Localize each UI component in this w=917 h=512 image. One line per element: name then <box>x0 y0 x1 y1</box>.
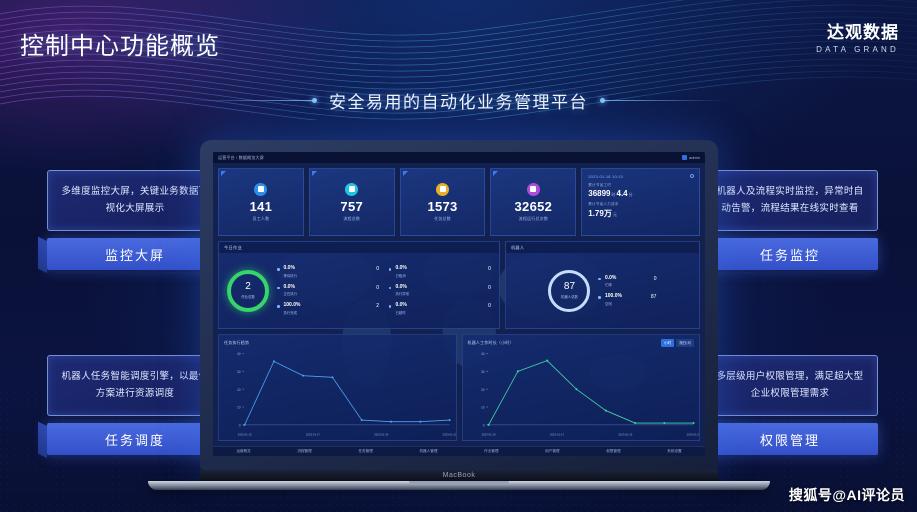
dock-item[interactable]: 用户管理 <box>545 449 559 454</box>
feature-desc-box: 机器人任务智能调度引擎，以最优方案进行资源调度 <box>47 355 223 416</box>
laptop-brand: MacBook <box>443 472 476 479</box>
svg-text:2023-01-19: 2023-01-19 <box>374 433 388 437</box>
panel-today-business: 今日作业 2 作业总数 <box>218 241 500 329</box>
dashboard-dock: 运营概览 流程管理 任务管理 机器人管理 作业管理 用户管理 权限管理 系统设置 <box>213 446 705 456</box>
feature-card-permission[interactable]: 多层级用户权限管理，满足超大型企业权限管理需求 权限管理 <box>702 355 878 455</box>
svg-text:2023-01-15: 2023-01-15 <box>238 433 252 437</box>
stat-label: 员工人数 <box>253 216 270 222</box>
legend-pct: 0.0% <box>284 285 298 291</box>
laptop-base: MacBook <box>200 470 718 481</box>
panel-legend: 0.0% 等待执行 0 0.0% <box>277 266 491 315</box>
legend-pct: 0.0% <box>284 266 298 272</box>
dock-item[interactable]: 权限管理 <box>606 449 620 454</box>
info-row-label: 累计节省工时 <box>588 183 693 188</box>
legend-dot-icon <box>277 287 280 290</box>
subtitle-text: 安全易用的自动化业务管理平台 <box>329 88 588 113</box>
legend-name: 执行完成 <box>284 310 301 315</box>
stat-label: 流程总数 <box>343 216 360 222</box>
feature-desc-box: 多维度监控大屏，关键业务数据可视化大屏展示 <box>47 170 223 231</box>
legend-count: 0 <box>482 285 491 291</box>
svg-text:2023-01-22: 2023-01-22 <box>686 433 699 437</box>
feature-desc: 机器人任务智能调度引擎，以最优方案进行资源调度 <box>60 369 210 402</box>
chart-toggle-off[interactable]: 按日/月 <box>676 339 694 347</box>
legend-dot-icon <box>389 305 392 308</box>
legend-pct: 0.0% <box>395 266 406 272</box>
info-row-hours: 累计节省工时 36899时4.4分 <box>588 183 693 198</box>
svg-text:30: 30 <box>237 370 241 374</box>
legend-count: 0 <box>648 276 657 282</box>
info-row-value: 36899时4.4分 <box>588 189 693 198</box>
info-row-cost: 累计节省人力成本 1.79万元 <box>588 202 693 219</box>
legend-item: 100.0% 执行完成 2 <box>277 303 379 315</box>
stat-label: 任务总数 <box>434 216 451 222</box>
legend-count: 0 <box>482 266 491 272</box>
legend-count: 0 <box>370 285 379 291</box>
dock-item[interactable]: 流程管理 <box>297 449 311 454</box>
panel-content: 2 作业总数 0.0% 等待 <box>219 253 499 328</box>
legend-dot-icon <box>277 268 280 271</box>
legend-pct: 0.0% <box>605 276 616 282</box>
line-chart-right[interactable]: 机器人工作时长（小时） 小时 按日/月 4030201002023-01-152… <box>462 334 701 441</box>
legend-dot-icon <box>389 268 392 271</box>
svg-text:2023-01-22: 2023-01-22 <box>443 433 456 437</box>
donut-label: 作业总数 <box>241 294 255 299</box>
feature-desc: 多维度监控大屏，关键业务数据可视化大屏展示 <box>60 184 210 217</box>
info-value-sub: 4.4 <box>617 189 628 198</box>
feature-card-task-schedule[interactable]: 机器人任务智能调度引擎，以最优方案进行资源调度 任务调度 <box>47 355 223 455</box>
info-unit-1: 时 <box>612 192 616 197</box>
feature-desc-box: 多层级用户权限管理，满足超大型企业权限管理需求 <box>702 355 878 416</box>
chart-right-svg: 4030201002023-01-152023-01-172023-01-192… <box>463 347 700 440</box>
legend-dot-icon <box>277 305 280 308</box>
chart-toggle-group[interactable]: 小时 按日/月 <box>661 339 694 347</box>
legend-item: 0.0% 等待执行 0 <box>277 266 379 278</box>
donut-value: 87 <box>564 282 575 292</box>
breadcrumb: 运营平台 / 数据概览大屏 <box>218 155 264 161</box>
feature-desc: 多层级用户权限管理，满足超大型企业权限管理需求 <box>715 369 865 402</box>
feature-desc: 机器人及流程实时监控，异常时自动告警，流程结果在线实时查看 <box>715 184 865 217</box>
panel-row: 今日作业 2 作业总数 <box>218 241 700 329</box>
panel-header: 今日作业 <box>219 242 499 253</box>
legend-column-right: 0.0% 已取消 0 0.0% <box>389 266 491 315</box>
laptop-mockup: 运营平台 / 数据概览大屏 admin <box>200 140 718 481</box>
legend-column: 0.0% 忙碌 0 100.0% <box>598 276 656 306</box>
legend-name: 执行异常 <box>395 291 409 296</box>
legend-dot-icon <box>598 296 601 299</box>
panel-robot: 机器人 87 机器人总数 <box>505 241 700 329</box>
svg-text:40: 40 <box>480 352 484 356</box>
legend-name: 等待执行 <box>284 273 298 278</box>
svg-text:2023-01-15: 2023-01-15 <box>481 433 495 437</box>
brand-logo: 达观数据 DATA GRAND <box>816 18 899 54</box>
legend-count: 87 <box>645 294 657 300</box>
savings-info-card[interactable]: 2023-01-18 10:13 累计节省工时 36899时4.4分 累计节省人… <box>581 168 700 236</box>
panel-title: 今日作业 <box>224 245 242 251</box>
logo-chinese: 达观数据 <box>816 18 899 43</box>
svg-text:10: 10 <box>237 406 241 410</box>
watermark: 搜狐号@AI评论员 <box>789 485 905 505</box>
dock-item[interactable]: 运营概览 <box>236 449 250 454</box>
info-card-date: 2023-01-18 10:13 <box>588 174 693 179</box>
feature-label-monitor-screen[interactable]: 监控大屏 <box>47 238 223 270</box>
clipboard-icon <box>436 183 449 196</box>
panel-title: 机器人 <box>511 245 524 251</box>
donut-chart-today-business: 2 作业总数 <box>227 270 269 312</box>
user-menu[interactable]: admin <box>682 155 700 160</box>
subtitle-line-right <box>602 100 727 101</box>
dock-item[interactable]: 任务管理 <box>358 449 372 454</box>
chart-icon <box>527 183 540 196</box>
stat-card-tasks[interactable]: 1573 任务总数 <box>400 168 486 236</box>
legend-pct: 100.0% <box>605 294 622 300</box>
logo-english: DATA GRAND <box>816 45 899 54</box>
svg-text:0: 0 <box>482 423 484 427</box>
chart-title: 任务执行趋势 <box>224 340 451 346</box>
stat-card-employees[interactable]: 141 员工人数 <box>218 168 304 236</box>
legend-count: 2 <box>370 303 379 309</box>
legend-pct: 0.0% <box>395 303 406 309</box>
stat-value: 141 <box>250 200 273 213</box>
legend-name: 已取消 <box>395 273 406 278</box>
feature-card-monitor-screen[interactable]: 多维度监控大屏，关键业务数据可视化大屏展示 监控大屏 <box>47 170 223 270</box>
stat-card-runs[interactable]: 32652 流程运行总次数 <box>490 168 576 236</box>
svg-text:20: 20 <box>480 388 484 392</box>
legend-pct: 0.0% <box>395 285 409 291</box>
refresh-icon[interactable] <box>690 174 694 178</box>
svg-text:30: 30 <box>480 370 484 374</box>
legend-item: 0.0% 已超时 0 <box>389 303 491 315</box>
laptop-lid: 运营平台 / 数据概览大屏 admin <box>200 140 718 470</box>
donut-label: 机器人总数 <box>561 294 578 299</box>
donut-chart-robot: 87 机器人总数 <box>548 270 590 312</box>
dock-item[interactable]: 作业管理 <box>484 449 498 454</box>
stat-card-row: 141 员工人数 757 流程总数 1573 任务总数 <box>218 168 700 236</box>
page-title: 控制中心功能概览 <box>20 26 220 61</box>
legend-name: 忙碌 <box>605 282 616 287</box>
svg-text:40: 40 <box>237 352 241 356</box>
legend-item: 0.0% 执行异常 0 <box>389 285 491 297</box>
chart-left-svg: 4030201002023-01-152023-01-172023-01-192… <box>219 347 456 440</box>
svg-text:20: 20 <box>237 388 241 392</box>
person-icon <box>254 183 267 196</box>
legend-dot-icon <box>598 278 601 281</box>
legend-column-left: 0.0% 等待执行 0 0.0% <box>277 266 379 315</box>
info-row-label: 累计节省人力成本 <box>588 202 693 207</box>
feature-card-task-monitor[interactable]: 机器人及流程实时监控，异常时自动告警，流程结果在线实时查看 任务监控 <box>702 170 878 270</box>
chart-toggle-on[interactable]: 小时 <box>661 339 674 347</box>
laptop-foot <box>148 481 770 490</box>
slide-background: 控制中心功能概览 达观数据 DATA GRAND 安全易用的自动化业务管理平台 … <box>0 0 917 512</box>
svg-text:10: 10 <box>480 406 484 410</box>
stat-value: 757 <box>340 200 363 213</box>
svg-text:2023-01-17: 2023-01-17 <box>306 433 320 437</box>
legend-pct: 100.0% <box>284 303 301 309</box>
feature-label-task-schedule[interactable]: 任务调度 <box>47 423 223 455</box>
stat-card-processes[interactable]: 757 流程总数 <box>309 168 395 236</box>
legend-dot-icon <box>389 287 392 290</box>
info-unit-2: 分 <box>629 192 633 197</box>
donut-value: 2 <box>245 282 251 292</box>
info-unit-1: 元 <box>613 212 617 217</box>
user-name: admin <box>689 155 700 160</box>
line-chart-left[interactable]: 任务执行趋势 4030201002023-01-152023-01-172023… <box>218 334 457 441</box>
info-value-main: 36899 <box>588 189 610 198</box>
dashboard-topbar: 运营平台 / 数据概览大屏 admin <box>213 152 705 163</box>
legend-item: 100.0% 空闲 87 <box>598 294 656 306</box>
legend-name: 正在执行 <box>284 291 298 296</box>
legend-item: 0.0% 已取消 0 <box>389 266 491 278</box>
panel-header: 机器人 <box>506 242 699 253</box>
subtitle-row: 安全易用的自动化业务管理平台 <box>0 88 917 113</box>
legend-name: 已超时 <box>395 310 406 315</box>
legend-name: 空闲 <box>605 301 622 306</box>
feature-desc-box: 机器人及流程实时监控，异常时自动告警，流程结果在线实时查看 <box>702 170 878 231</box>
dashboard-screen: 运营平台 / 数据概览大屏 admin <box>213 152 705 456</box>
info-value-main: 1.79万 <box>588 209 612 218</box>
stat-value: 1573 <box>427 200 457 213</box>
panel-content: 87 机器人总数 0.0% 忙碌 <box>506 253 699 328</box>
info-row-value: 1.79万元 <box>588 208 693 219</box>
legend-item: 0.0% 忙碌 0 <box>598 276 656 288</box>
stat-value: 32652 <box>515 200 553 213</box>
feature-label-task-monitor[interactable]: 任务监控 <box>702 238 878 270</box>
legend-count: 0 <box>370 266 379 272</box>
svg-text:2023-01-19: 2023-01-19 <box>618 433 632 437</box>
svg-text:0: 0 <box>239 423 241 427</box>
feature-label-permission[interactable]: 权限管理 <box>702 423 878 455</box>
chart-title: 机器人工作时长（小时） <box>468 340 695 346</box>
dock-item[interactable]: 机器人管理 <box>419 449 437 454</box>
avatar-icon <box>682 155 687 160</box>
grid-icon <box>345 183 358 196</box>
stat-label: 流程运行总次数 <box>519 216 548 222</box>
legend-item: 0.0% 正在执行 0 <box>277 285 379 297</box>
legend-count: 0 <box>482 303 491 309</box>
dashboard-body: 141 员工人数 757 流程总数 1573 任务总数 <box>213 163 705 446</box>
chart-row: 任务执行趋势 4030201002023-01-152023-01-172023… <box>218 334 700 441</box>
subtitle-line-left <box>190 100 315 101</box>
svg-text:2023-01-17: 2023-01-17 <box>549 433 563 437</box>
dock-item[interactable]: 系统设置 <box>667 449 681 454</box>
